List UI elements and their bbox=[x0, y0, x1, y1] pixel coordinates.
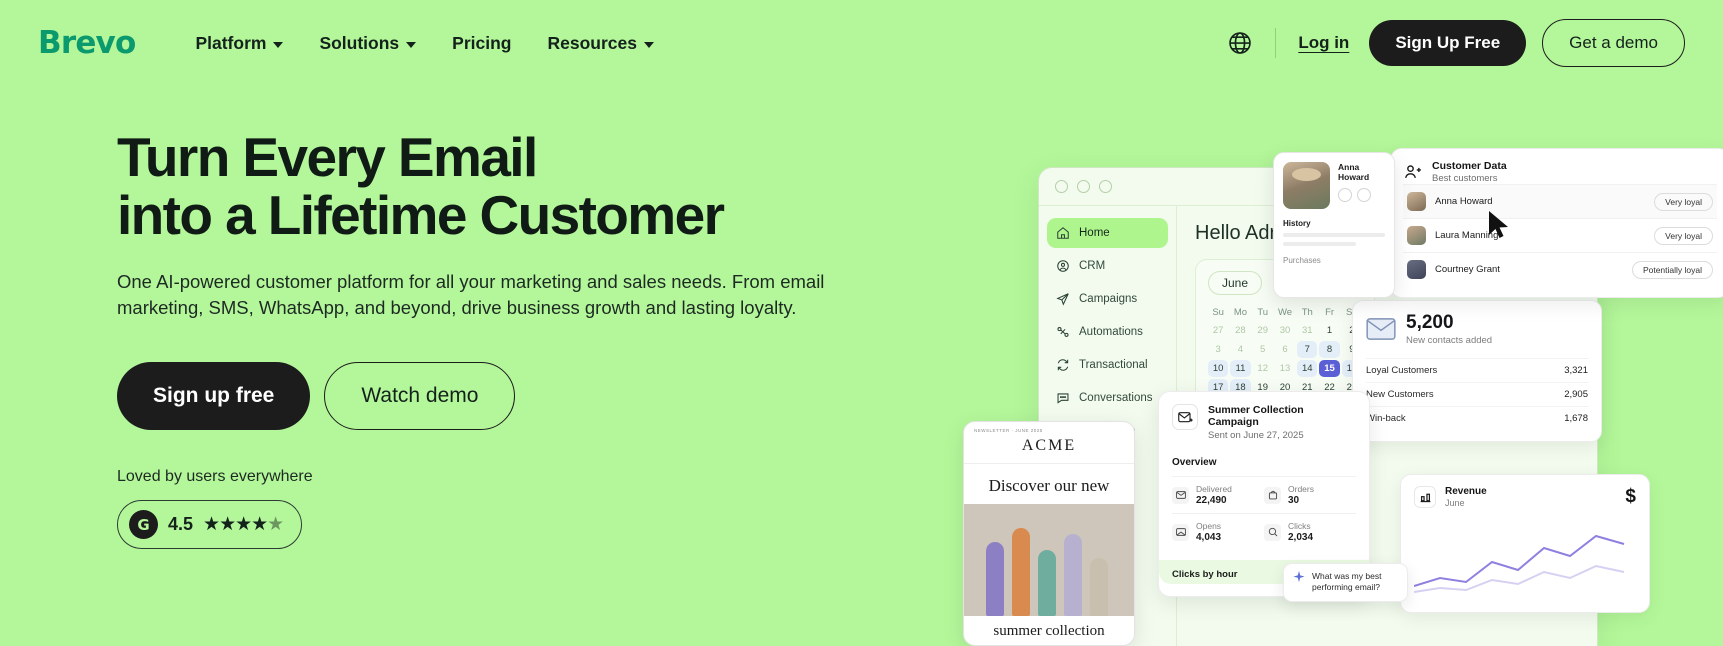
hero-cta-row: Sign up free Watch demo bbox=[117, 362, 917, 430]
get-a-demo-button[interactable]: Get a demo bbox=[1542, 19, 1685, 67]
sidebar-label: Transactional bbox=[1079, 359, 1148, 371]
placeholder-bar bbox=[1283, 242, 1356, 246]
newsletter-preview: NEWSLETTER · JUNE 2025 ACME Discover our… bbox=[963, 421, 1135, 646]
row-label: Loyal Customers bbox=[1366, 365, 1437, 376]
list-item: New Customers 2,905 bbox=[1366, 382, 1588, 406]
weekday-header: Fr bbox=[1319, 305, 1339, 320]
revenue-amount: $ bbox=[1625, 486, 1636, 508]
product-tube bbox=[1090, 558, 1108, 616]
row-label: Win-back bbox=[1366, 413, 1406, 424]
nav-item-solutions[interactable]: Solutions bbox=[319, 33, 416, 54]
automation-icon bbox=[1056, 325, 1070, 339]
stat-label: Opens bbox=[1196, 521, 1221, 531]
avatar bbox=[1407, 260, 1426, 279]
status-badge: Potentially loyal bbox=[1632, 261, 1713, 279]
revenue-icon bbox=[1414, 486, 1436, 508]
refresh-icon bbox=[1056, 358, 1070, 372]
calendar-day-selected[interactable]: 15 bbox=[1319, 360, 1339, 377]
paper-plane-icon bbox=[1056, 292, 1070, 306]
loved-by-users-label: Loved by users everywhere bbox=[117, 468, 917, 486]
placeholder-bar bbox=[1283, 233, 1385, 237]
sparkle-icon bbox=[1293, 571, 1305, 583]
calendar-day[interactable]: 13 bbox=[1275, 360, 1295, 377]
ai-suggestion-chip[interactable]: What was my best performing email? bbox=[1283, 563, 1408, 602]
calendar-day[interactable]: 6 bbox=[1275, 341, 1295, 358]
contacts-count: 5,200 bbox=[1406, 312, 1492, 334]
g2-icon: G bbox=[129, 510, 158, 539]
stat-clicks: Clicks2,034 bbox=[1264, 513, 1356, 550]
sidebar-label: Conversations bbox=[1079, 392, 1153, 404]
panel-title: Customer Data bbox=[1432, 160, 1507, 172]
sidebar-item-crm[interactable]: CRM bbox=[1047, 251, 1168, 281]
row-value: 2,905 bbox=[1564, 389, 1588, 400]
calendar-grid: Su Mo Tu We Th Fr Sa 27 28 29 30 31 1 2 … bbox=[1208, 305, 1362, 396]
brevo-logo[interactable]: Brevo bbox=[38, 25, 135, 61]
sidebar-item-automations[interactable]: Automations bbox=[1047, 317, 1168, 347]
customer-data-header: Customer Data Best customers bbox=[1403, 160, 1717, 184]
signup-free-button[interactable]: Sign Up Free bbox=[1369, 20, 1526, 66]
customer-hover-card: Anna Howard History Purchases bbox=[1273, 152, 1395, 298]
open-mail-icon bbox=[1172, 524, 1189, 541]
ai-suggestion-text: What was my best performing email? bbox=[1312, 571, 1398, 594]
calendar-month[interactable]: June bbox=[1208, 271, 1262, 295]
star-half: ★ bbox=[267, 514, 283, 535]
product-tube bbox=[1012, 528, 1030, 616]
chevron-down-icon bbox=[406, 42, 416, 48]
home-icon bbox=[1056, 226, 1070, 240]
calendar-day[interactable]: 10 bbox=[1208, 360, 1228, 377]
sidebar-label: CRM bbox=[1079, 260, 1105, 272]
history-label: History bbox=[1283, 219, 1385, 228]
product-tube bbox=[1038, 550, 1056, 616]
header-divider bbox=[1275, 28, 1276, 58]
product-tube bbox=[1064, 534, 1082, 616]
nav-item-pricing[interactable]: Pricing bbox=[452, 33, 511, 54]
revenue-sparkline bbox=[1414, 522, 1638, 596]
newsletter-product-image bbox=[964, 504, 1134, 616]
table-row[interactable]: Anna Howard Very loyal bbox=[1403, 184, 1717, 218]
table-row[interactable]: Laura Manning Very loyal bbox=[1403, 218, 1717, 252]
nav-label: Solutions bbox=[319, 33, 399, 54]
login-link[interactable]: Log in bbox=[1298, 33, 1349, 53]
hero-title-line-2: into a Lifetime Customer bbox=[117, 184, 723, 246]
campaign-sent-date: Sent on June 27, 2025 bbox=[1208, 430, 1356, 441]
sidebar-label: Campaigns bbox=[1079, 293, 1137, 305]
chevron-down-icon bbox=[644, 42, 654, 48]
newsletter-headline: Discover our new bbox=[964, 464, 1134, 504]
table-row[interactable]: Courtney Grant Potentially loyal bbox=[1403, 252, 1717, 286]
customer-name: Anna Howard bbox=[1338, 162, 1385, 182]
site-header: Brevo Platform Solutions Pricing Resourc… bbox=[0, 0, 1723, 86]
hero-title-line-1: Turn Every Email bbox=[117, 126, 537, 188]
campaign-stats-grid: Delivered22,490 Orders30 Opens4,043 Clic… bbox=[1172, 476, 1356, 550]
newsletter-brand: ACME bbox=[964, 437, 1134, 464]
calendar-day[interactable]: 28 bbox=[1230, 322, 1250, 339]
calendar-day[interactable]: 3 bbox=[1208, 341, 1228, 358]
mouse-cursor-icon bbox=[1487, 210, 1513, 240]
nav-item-platform[interactable]: Platform bbox=[195, 33, 283, 54]
header-actions: Log in Sign Up Free Get a demo bbox=[1227, 19, 1685, 67]
stat-opens: Opens4,043 bbox=[1172, 513, 1264, 550]
nav-label: Pricing bbox=[452, 33, 511, 54]
calendar-day[interactable]: 29 bbox=[1253, 322, 1273, 339]
stat-value: 4,043 bbox=[1196, 532, 1221, 543]
calendar-day[interactable]: 4 bbox=[1230, 341, 1250, 358]
page-title: Turn Every Email into a Lifetime Custome… bbox=[117, 128, 917, 245]
rating-stars: ★★★★★ bbox=[203, 513, 283, 536]
status-badge: Very loyal bbox=[1654, 227, 1713, 245]
revenue-period: June bbox=[1445, 498, 1487, 508]
sidebar-item-home[interactable]: Home bbox=[1047, 218, 1168, 248]
revenue-card: Revenue June $ bbox=[1400, 474, 1650, 613]
rating-badge[interactable]: G 4.5 ★★★★★ bbox=[117, 500, 302, 549]
rating-value: 4.5 bbox=[168, 514, 193, 535]
hero-section: Turn Every Email into a Lifetime Custome… bbox=[117, 128, 917, 549]
sidebar-label: Automations bbox=[1079, 326, 1143, 338]
list-item: Win-back 1,678 bbox=[1366, 406, 1588, 430]
calendar-day[interactable]: 11 bbox=[1230, 360, 1250, 377]
calendar-day[interactable]: 27 bbox=[1208, 322, 1228, 339]
overview-label: Overview bbox=[1172, 457, 1356, 468]
nav-item-resources[interactable]: Resources bbox=[547, 33, 654, 54]
stat-label: Delivered bbox=[1196, 484, 1232, 494]
new-contacts-card: 5,200 New contacts added Loyal Customers… bbox=[1352, 300, 1602, 442]
user-circle-icon bbox=[1056, 259, 1070, 273]
revenue-title: Revenue bbox=[1445, 486, 1487, 497]
chevron-down-icon bbox=[273, 42, 283, 48]
globe-icon[interactable] bbox=[1227, 30, 1253, 56]
sign-up-free-cta[interactable]: Sign up free bbox=[117, 362, 310, 430]
sidebar-label: Home bbox=[1079, 227, 1110, 239]
nav-label: Platform bbox=[195, 33, 266, 54]
nav-label: Resources bbox=[547, 33, 637, 54]
customer-data-panel: Customer Data Best customers Anna Howard… bbox=[1390, 148, 1723, 298]
mail-plus-icon bbox=[1172, 404, 1198, 430]
calendar-day[interactable]: 1 bbox=[1319, 322, 1339, 339]
status-badge: Very loyal bbox=[1654, 193, 1713, 211]
chat-icon bbox=[1056, 391, 1070, 405]
phone-icon[interactable] bbox=[1357, 188, 1371, 202]
calendar-day[interactable]: 8 bbox=[1319, 341, 1339, 358]
stars-full: ★★★★ bbox=[203, 514, 267, 535]
stat-value: 22,490 bbox=[1196, 495, 1232, 506]
newsletter-footline: summer collection bbox=[964, 616, 1134, 640]
stat-label: Clicks bbox=[1288, 521, 1313, 531]
calendar-day[interactable]: 14 bbox=[1297, 360, 1317, 377]
mail-icon[interactable] bbox=[1338, 188, 1352, 202]
weekday-header: Tu bbox=[1253, 305, 1273, 320]
cart-icon bbox=[1264, 487, 1281, 504]
hero-subtitle: One AI-powered customer platform for all… bbox=[117, 269, 835, 323]
mail-icon bbox=[1172, 487, 1189, 504]
customer-data-icon bbox=[1403, 162, 1423, 182]
customer-name: Anna Howard bbox=[1435, 196, 1493, 207]
weekday-header: Su bbox=[1208, 305, 1228, 320]
list-item: Loyal Customers 3,321 bbox=[1366, 358, 1588, 382]
row-label: New Customers bbox=[1366, 389, 1434, 400]
stat-value: 2,034 bbox=[1288, 532, 1313, 543]
weekday-header: Mo bbox=[1230, 305, 1250, 320]
calendar-day[interactable]: 30 bbox=[1275, 322, 1295, 339]
avatar bbox=[1283, 162, 1330, 209]
stat-delivered: Delivered22,490 bbox=[1172, 476, 1264, 513]
window-dot bbox=[1099, 180, 1112, 193]
window-dot bbox=[1055, 180, 1068, 193]
row-value: 1,678 bbox=[1564, 413, 1588, 424]
calendar-day[interactable]: 7 bbox=[1297, 341, 1317, 358]
weekday-header: Th bbox=[1297, 305, 1317, 320]
sidebar-item-campaigns[interactable]: Campaigns bbox=[1047, 284, 1168, 314]
main-nav: Platform Solutions Pricing Resources bbox=[195, 33, 654, 54]
campaign-title: Summer Collection Campaign bbox=[1208, 404, 1356, 428]
panel-subtitle: Best customers bbox=[1432, 173, 1507, 184]
window-dot bbox=[1077, 180, 1090, 193]
calendar-day[interactable]: 12 bbox=[1253, 360, 1273, 377]
avatar bbox=[1407, 192, 1426, 211]
newsletter-kicker: NEWSLETTER · JUNE 2025 bbox=[964, 422, 1134, 437]
sidebar-item-transactional[interactable]: Transactional bbox=[1047, 350, 1168, 380]
stat-value: 30 bbox=[1288, 495, 1314, 506]
envelope-icon bbox=[1366, 317, 1396, 341]
avatar bbox=[1407, 226, 1426, 245]
purchases-label: Purchases bbox=[1283, 256, 1385, 265]
calendar-day[interactable]: 5 bbox=[1253, 341, 1273, 358]
stat-label: Orders bbox=[1288, 484, 1314, 494]
calendar-day[interactable]: 31 bbox=[1297, 322, 1317, 339]
contacts-breakdown: Loyal Customers 3,321 New Customers 2,90… bbox=[1366, 358, 1588, 430]
weekday-header: We bbox=[1275, 305, 1295, 320]
click-icon bbox=[1264, 524, 1281, 541]
customer-name: Courtney Grant bbox=[1435, 264, 1500, 275]
row-value: 3,321 bbox=[1564, 365, 1588, 376]
product-tube bbox=[986, 542, 1004, 616]
watch-demo-cta[interactable]: Watch demo bbox=[324, 362, 515, 430]
sidebar-item-conversations[interactable]: Conversations bbox=[1047, 383, 1168, 413]
stat-orders: Orders30 bbox=[1264, 476, 1356, 513]
contacts-label: New contacts added bbox=[1406, 335, 1492, 346]
